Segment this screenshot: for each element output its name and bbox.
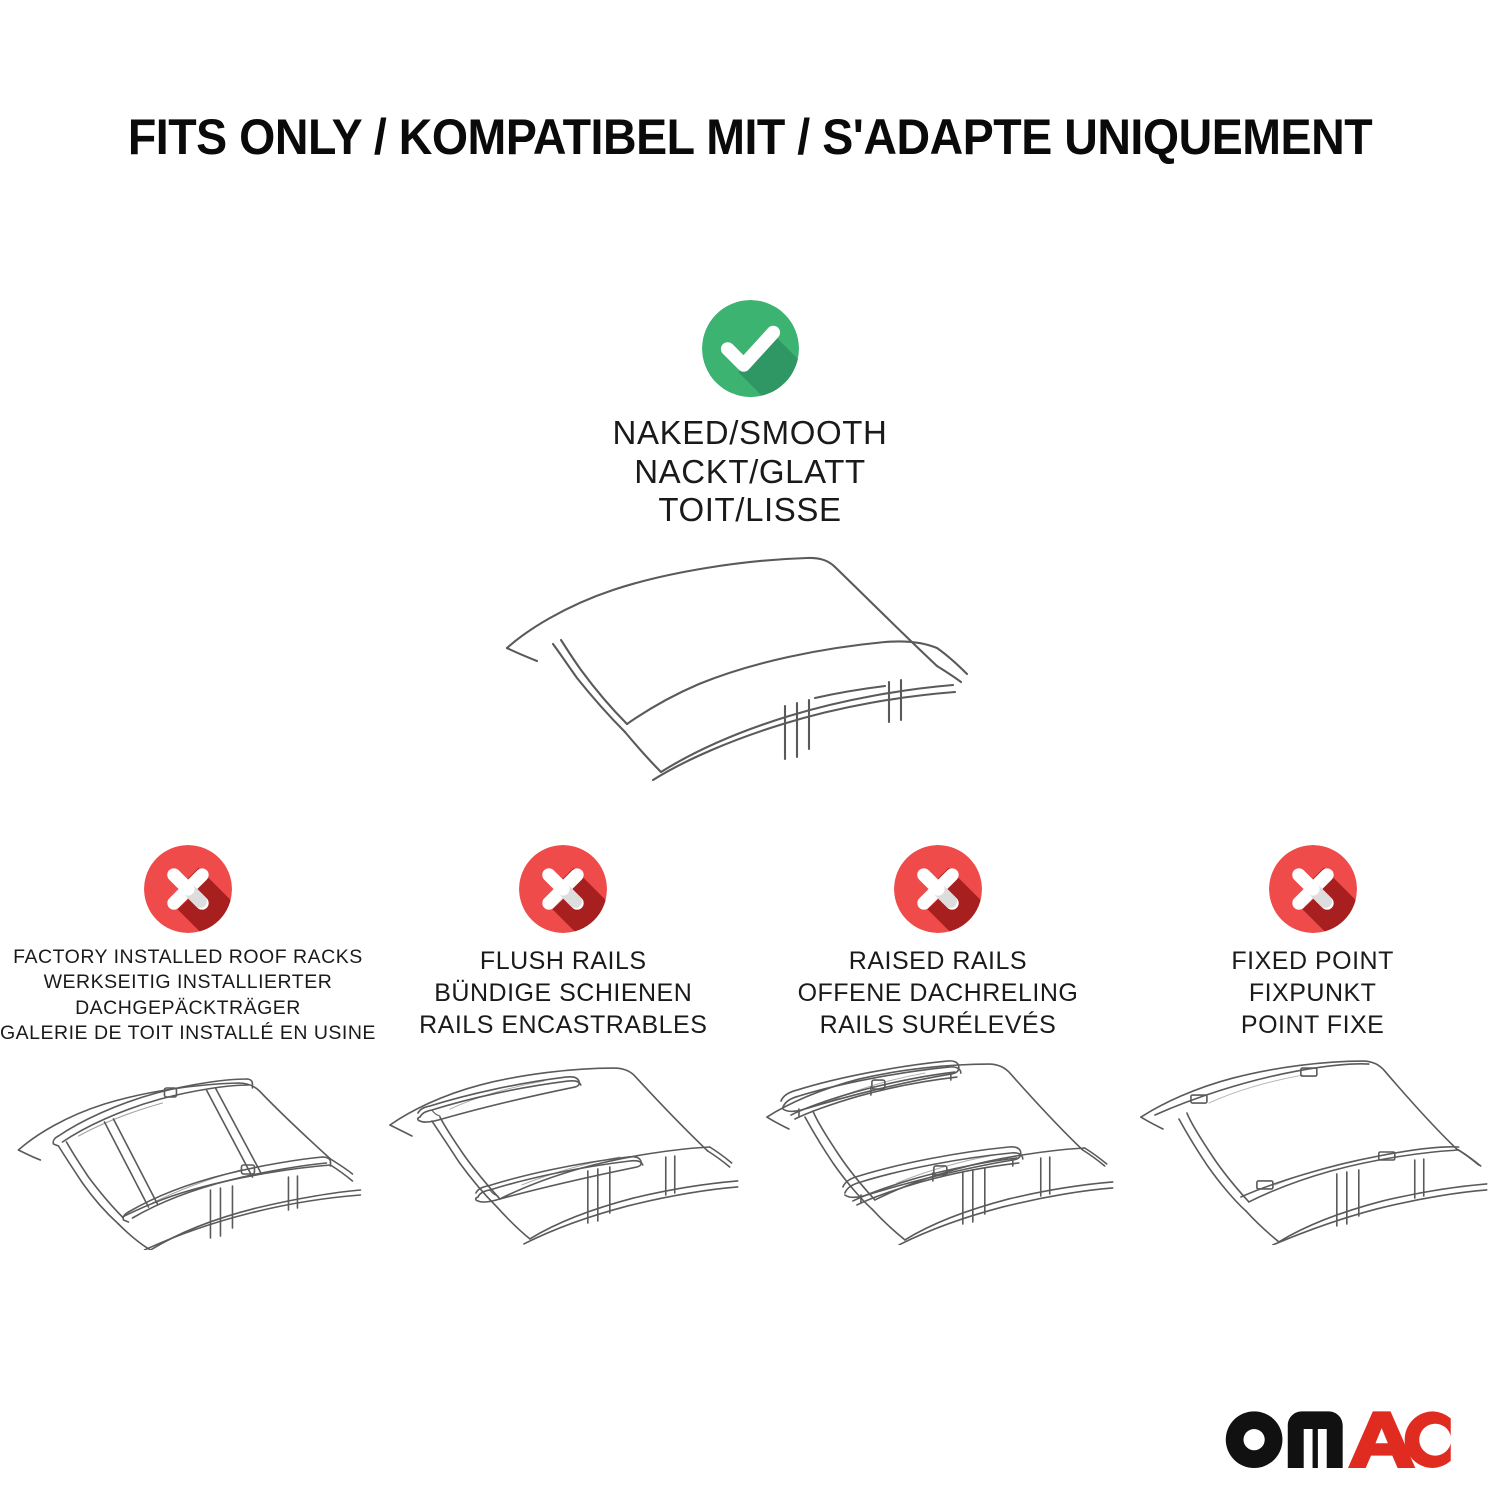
caption-line-3: RAILS ENCASTRABLES	[419, 1009, 707, 1041]
compatible-caption-line-1: NAKED/SMOOTH	[613, 414, 888, 453]
compatible-caption-line-3: TOIT/LISSE	[613, 491, 888, 530]
caption-line-3: POINT FIXE	[1231, 1009, 1393, 1041]
caption-line-1: FACTORY INSTALLED ROOF RACKS	[0, 945, 376, 970]
x-circle-icon	[519, 845, 607, 933]
caption-line-1: FLUSH RAILS	[419, 945, 707, 977]
incompatible-item-factory-installed-roof-racks: FACTORY INSTALLED ROOF RACKS WERKSEITIG …	[0, 845, 376, 1250]
caption-line-2: FIXPUNKT	[1231, 977, 1393, 1009]
check-circle-icon	[702, 300, 799, 397]
incompatible-caption-flush-rails: FLUSH RAILS BÜNDIGE SCHIENEN RAILS ENCAS…	[419, 945, 707, 1041]
incompatible-item-fixed-point: FIXED POINT FIXPUNKT POINT FIXE	[1125, 845, 1500, 1245]
caption-line-2: WERKSEITIG INSTALLIERTER	[0, 970, 376, 995]
logo-letter-c	[1404, 1411, 1450, 1468]
caption-line-3: RAILS SURÉLEVÉS	[798, 1009, 1079, 1041]
car-roof-naked-smooth-illustration	[485, 544, 1015, 804]
car-roof-factory-racks-illustration	[0, 1060, 376, 1250]
caption-line-4: GALERIE DE TOIT INSTALLÉ EN USINE	[0, 1021, 376, 1046]
car-roof-raised-rails-illustration	[751, 1055, 1126, 1245]
caption-line-2: OFFENE DACHRELING	[798, 977, 1079, 1009]
caption-line-3: DACHGEPÄCKTRÄGER	[0, 996, 376, 1021]
incompatible-caption-raised-rails: RAISED RAILS OFFENE DACHRELING RAILS SUR…	[798, 945, 1079, 1041]
page-title: FITS ONLY / KOMPATIBEL MIT / S'ADAPTE UN…	[0, 108, 1500, 166]
caption-line-2: BÜNDIGE SCHIENEN	[419, 977, 707, 1009]
incompatible-item-flush-rails: FLUSH RAILS BÜNDIGE SCHIENEN RAILS ENCAS…	[376, 845, 751, 1245]
incompatible-caption-fixed-point: FIXED POINT FIXPUNKT POINT FIXE	[1231, 945, 1393, 1041]
compatible-caption: NAKED/SMOOTH NACKT/GLATT TOIT/LISSE	[613, 414, 888, 530]
x-circle-icon	[144, 845, 232, 933]
caption-line-1: RAISED RAILS	[798, 945, 1079, 977]
page-title-text: FITS ONLY / KOMPATIBEL MIT / S'ADAPTE UN…	[128, 108, 1372, 166]
car-roof-flush-rails-illustration	[376, 1055, 751, 1245]
compatible-section: NAKED/SMOOTH NACKT/GLATT TOIT/LISSE	[0, 300, 1500, 804]
caption-line-1: FIXED POINT	[1231, 945, 1393, 977]
brand-logo-omac	[1224, 1406, 1454, 1468]
compatible-caption-line-2: NACKT/GLATT	[613, 453, 888, 492]
logo-letter-o	[1225, 1411, 1282, 1468]
incompatible-caption-factory-installed-roof-racks: FACTORY INSTALLED ROOF RACKS WERKSEITIG …	[0, 945, 376, 1046]
x-circle-icon	[894, 845, 982, 933]
logo-letter-m	[1287, 1411, 1342, 1468]
incompatible-item-raised-rails: RAISED RAILS OFFENE DACHRELING RAILS SUR…	[751, 845, 1126, 1245]
incompatible-section: FACTORY INSTALLED ROOF RACKS WERKSEITIG …	[0, 845, 1500, 1250]
car-roof-fixed-point-illustration	[1125, 1055, 1500, 1245]
x-circle-icon	[1269, 845, 1357, 933]
